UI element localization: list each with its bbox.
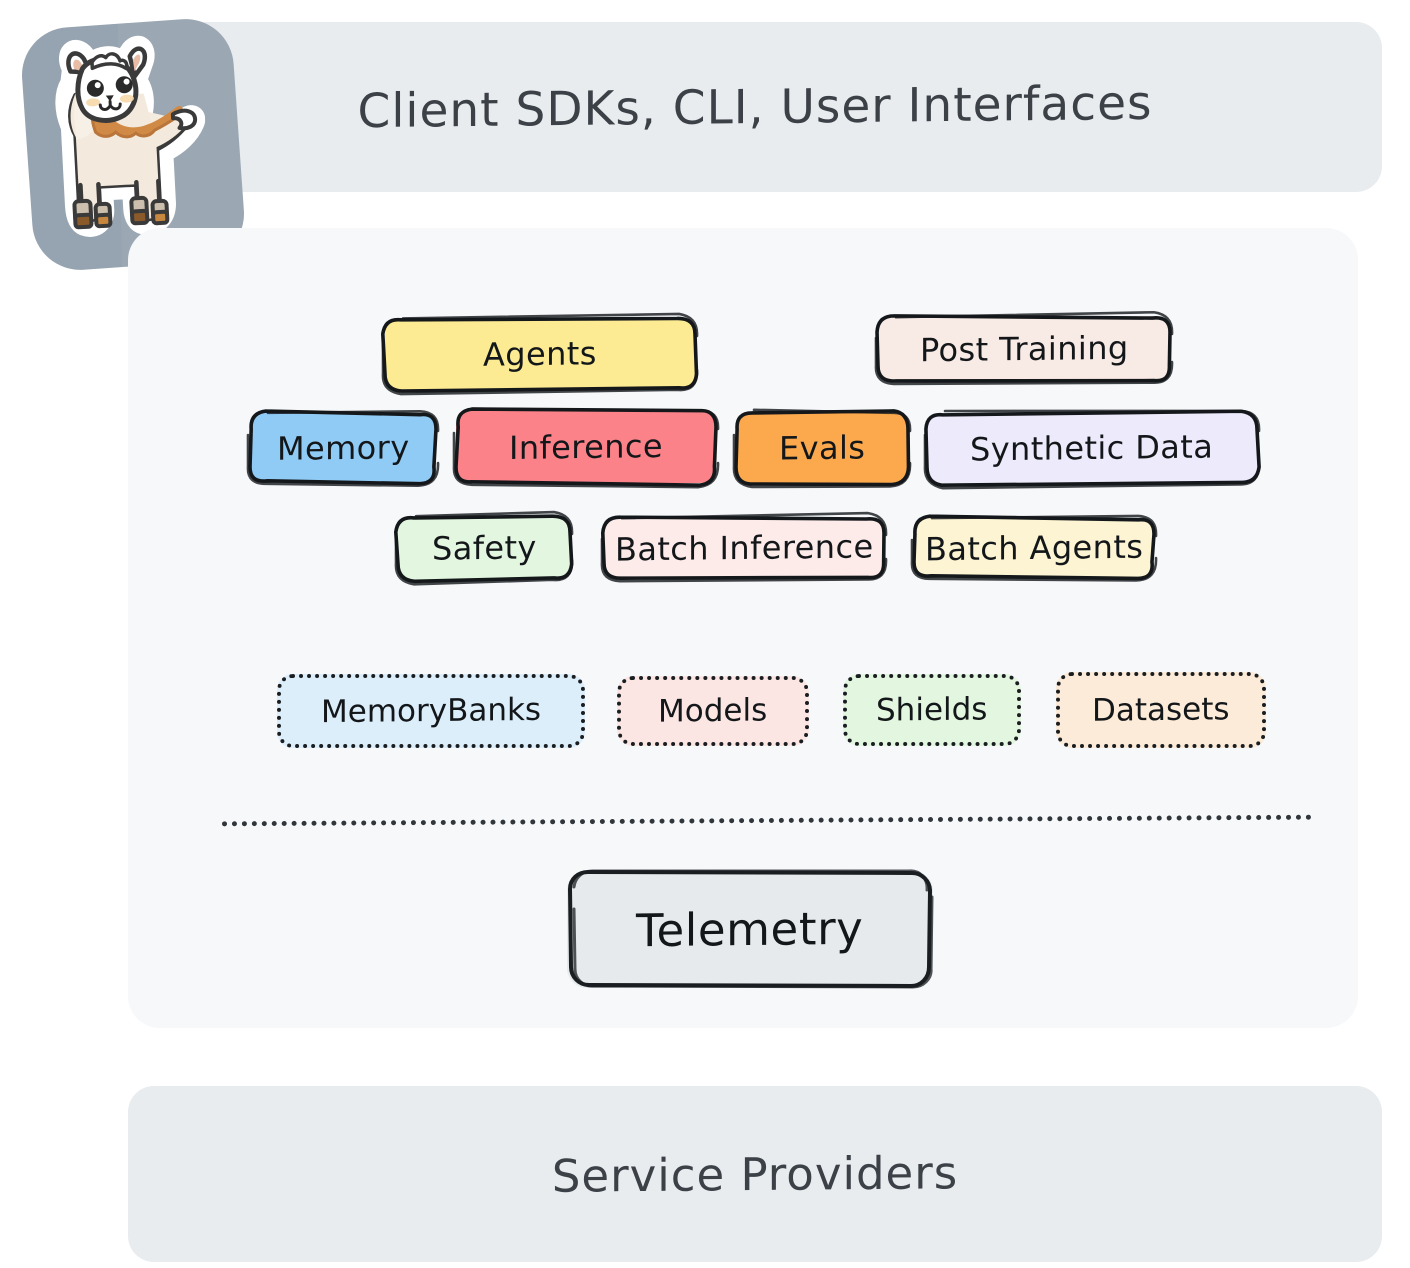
api-box-label: Safety (432, 528, 537, 567)
diagram-canvas: Client SDKs, CLI, User Interfaces (0, 0, 1410, 1268)
resource-box-datasets[interactable]: Datasets (1056, 672, 1266, 748)
telemetry-box[interactable]: Telemetry (567, 871, 933, 988)
api-box-post-training[interactable]: Post Training (878, 316, 1170, 382)
api-box-label: Memory (277, 428, 410, 468)
api-box-safety[interactable]: Safety (398, 516, 570, 580)
api-box-evals[interactable]: Evals (736, 413, 908, 483)
api-box-synthetic-data[interactable]: Synthetic Data (927, 413, 1257, 483)
api-box-inference[interactable]: Inference (456, 411, 716, 483)
resource-box-shields[interactable]: Shields (843, 674, 1021, 746)
api-box-batch-inference[interactable]: Batch Inference (604, 517, 884, 579)
resource-box-models[interactable]: Models (617, 676, 809, 746)
api-box-label: Evals (779, 428, 865, 467)
api-box-memory[interactable]: Memory (250, 413, 436, 483)
api-box-label: Post Training (920, 329, 1129, 370)
header-title: Client SDKs, CLI, User Interfaces (128, 15, 1382, 198)
api-box-batch-agents[interactable]: Batch Agents (914, 518, 1154, 578)
api-box-label: Batch Inference (615, 527, 874, 568)
llama-icon (29, 29, 212, 248)
api-box-label: Synthetic Data (970, 428, 1213, 469)
resource-box-memorybanks[interactable]: MemoryBanks (277, 674, 585, 748)
api-box-label: Inference (509, 427, 663, 467)
providers-title: Service Providers (128, 1081, 1382, 1268)
api-box-agents[interactable]: Agents (385, 318, 695, 390)
resource-box-label: Models (658, 692, 767, 729)
resource-box-label: Shields (876, 691, 987, 728)
api-box-label: Agents (483, 334, 597, 373)
resource-box-label: MemoryBanks (321, 692, 541, 730)
resource-box-label: Datasets (1092, 691, 1230, 728)
api-box-label: Batch Agents (925, 528, 1143, 569)
telemetry-label: Telemetry (636, 902, 863, 957)
